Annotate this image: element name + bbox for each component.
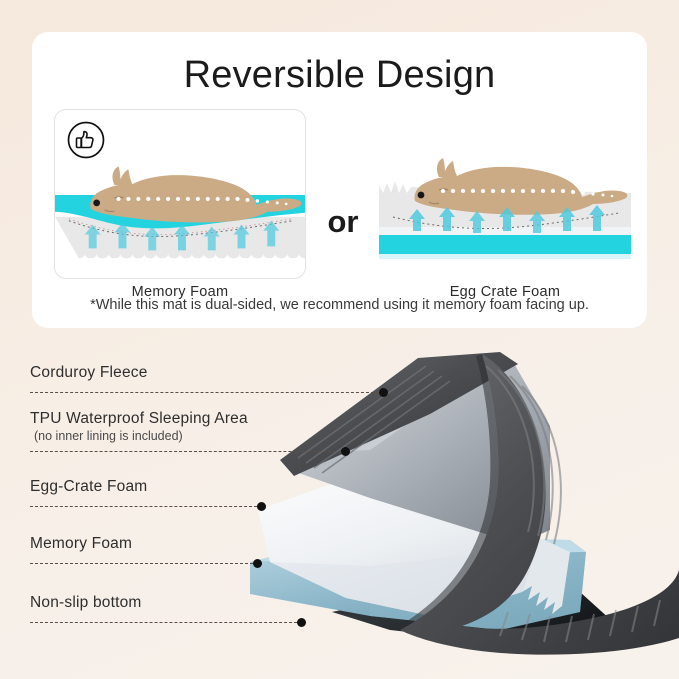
callout-non-slip-bottom: Non-slip bottom: [30, 594, 142, 612]
leader-dot-egg-crate-foam: [257, 502, 266, 511]
callout-memory-foam: Memory Foam: [30, 535, 132, 553]
callout-tpu-waterproof: TPU Waterproof Sleeping Area (no inner l…: [30, 410, 248, 443]
callout-corduroy-fleece: Corduroy Fleece: [30, 364, 148, 382]
egg-crate-foam-illustration: [379, 109, 631, 279]
panel-egg-crate-foam: [379, 109, 631, 279]
product-cutaway-image: [250, 330, 679, 660]
leader-line-egg-crate-foam: [30, 506, 262, 508]
callout-label: Memory Foam: [30, 535, 132, 553]
leader-line-tpu-waterproof: [30, 451, 346, 453]
panel-memory-foam: [54, 109, 306, 279]
leader-dot-corduroy-fleece: [379, 388, 388, 397]
footnote-text: *While this mat is dual-sided, we recomm…: [32, 297, 647, 313]
callout-label: Corduroy Fleece: [30, 364, 148, 382]
thumbs-up-icon: [66, 120, 106, 160]
leader-dot-memory-foam: [253, 559, 262, 568]
leader-dot-tpu-waterproof: [341, 447, 350, 456]
page-title: Reversible Design: [32, 54, 647, 97]
leader-dot-non-slip-bottom: [297, 618, 306, 627]
callout-egg-crate-foam: Egg-Crate Foam: [30, 478, 147, 496]
leader-line-memory-foam: [30, 563, 258, 565]
callout-label: Egg-Crate Foam: [30, 478, 147, 496]
leader-line-non-slip-bottom: [30, 622, 302, 624]
callout-sublabel: (no inner lining is included): [34, 429, 248, 443]
callout-label: TPU Waterproof Sleeping Area: [30, 410, 248, 428]
reversible-design-card: Reversible Design: [32, 32, 647, 328]
or-divider-label: or: [313, 204, 373, 240]
callout-label: Non-slip bottom: [30, 594, 142, 612]
leader-line-corduroy-fleece: [30, 392, 384, 394]
